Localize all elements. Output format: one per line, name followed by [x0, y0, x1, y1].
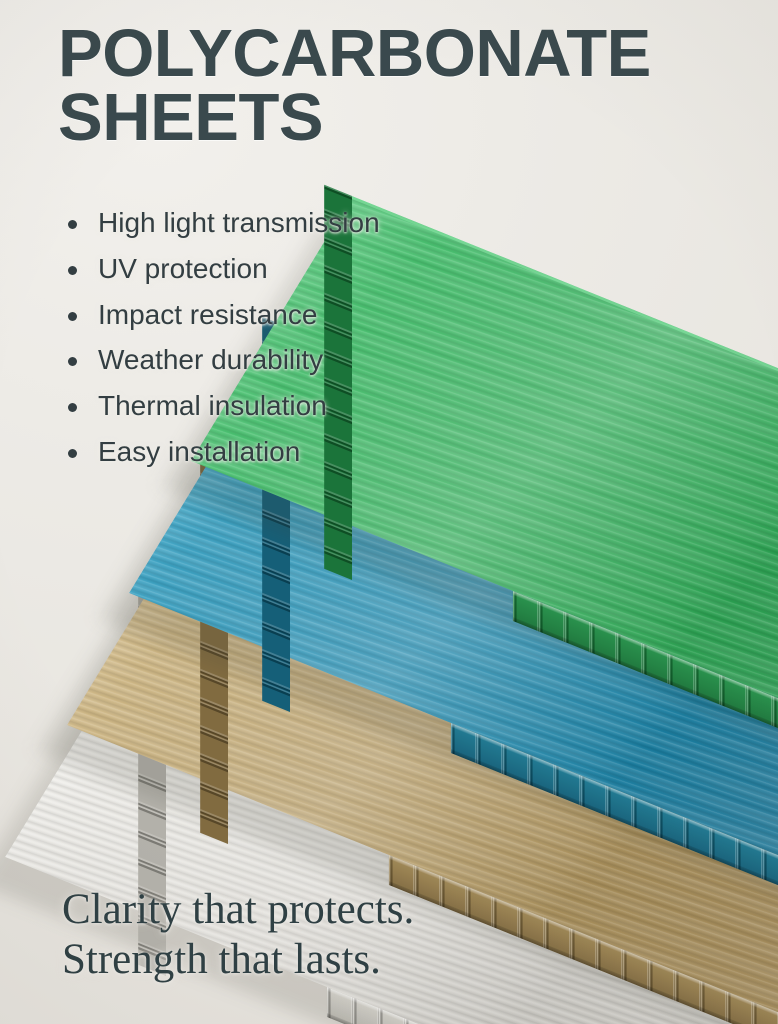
page-title: POLYCARBONATE SHEETS — [58, 22, 738, 149]
feature-list-item: Impact resistance — [60, 297, 380, 333]
bullet-dot-icon — [68, 449, 77, 458]
feature-label: Impact resistance — [98, 299, 317, 330]
feature-list-item: Thermal insulation — [60, 388, 380, 424]
bullet-dot-icon — [68, 357, 77, 366]
feature-list-item: High light transmission — [60, 205, 380, 241]
bullet-dot-icon — [68, 403, 77, 412]
green-sheet — [352, 196, 778, 526]
feature-list-item: UV protection — [60, 251, 380, 287]
feature-list-item: Easy installation — [60, 434, 380, 470]
bullet-dot-icon — [68, 312, 77, 321]
feature-label: Weather durability — [98, 344, 323, 375]
bullet-dot-icon — [68, 266, 77, 275]
feature-list-item: Weather durability — [60, 342, 380, 378]
bullet-dot-icon — [68, 220, 77, 229]
page-title-line-1: POLYCARBONATE — [58, 22, 738, 86]
tagline-line-1: Clarity that protects. — [62, 885, 414, 936]
feature-label: UV protection — [98, 253, 268, 284]
feature-label: Easy installation — [98, 436, 300, 467]
tagline: Clarity that protects. Strength that las… — [62, 885, 414, 986]
poster-canvas: POLYCARBONATE SHEETS High light transmis… — [0, 0, 778, 1024]
feature-label: Thermal insulation — [98, 390, 327, 421]
tagline-line-2: Strength that lasts. — [62, 935, 414, 986]
page-title-line-2: SHEETS — [58, 86, 738, 150]
feature-list: High light transmissionUV protectionImpa… — [60, 205, 380, 480]
feature-label: High light transmission — [98, 207, 380, 238]
